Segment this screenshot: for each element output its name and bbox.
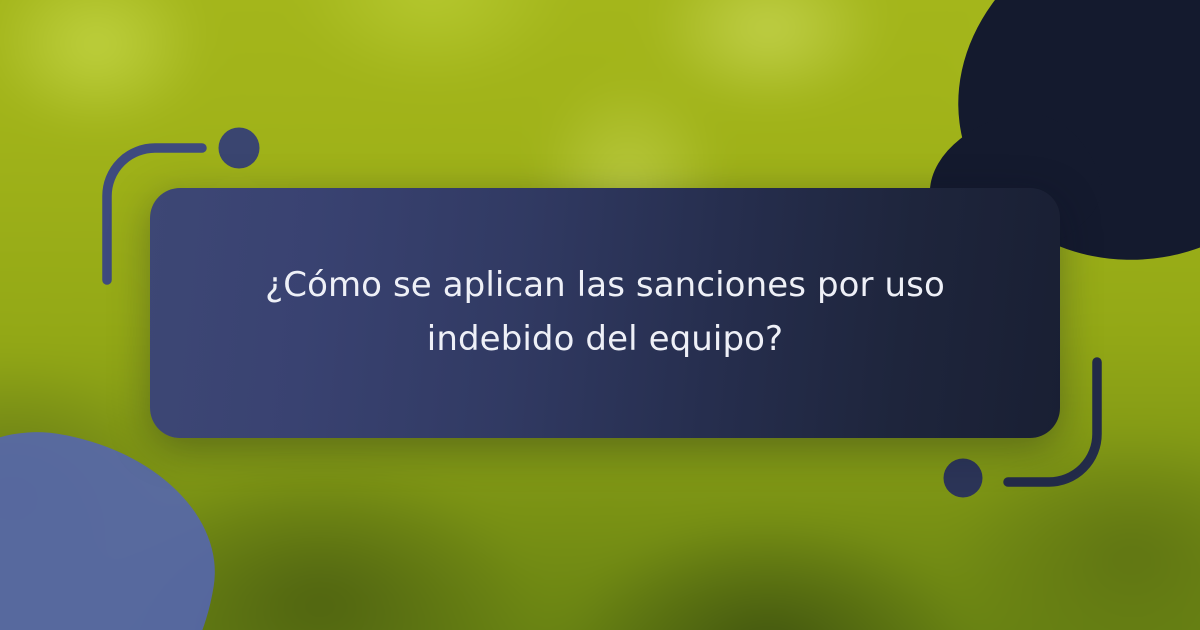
dot-icon xyxy=(219,128,260,169)
og-question-card: ¿Cómo se aplican las sanciones por uso i… xyxy=(0,0,1200,630)
question-text: ¿Cómo se aplican las sanciones por uso i… xyxy=(255,259,955,366)
question-card: ¿Cómo se aplican las sanciones por uso i… xyxy=(150,188,1060,438)
dot-icon xyxy=(944,459,983,498)
